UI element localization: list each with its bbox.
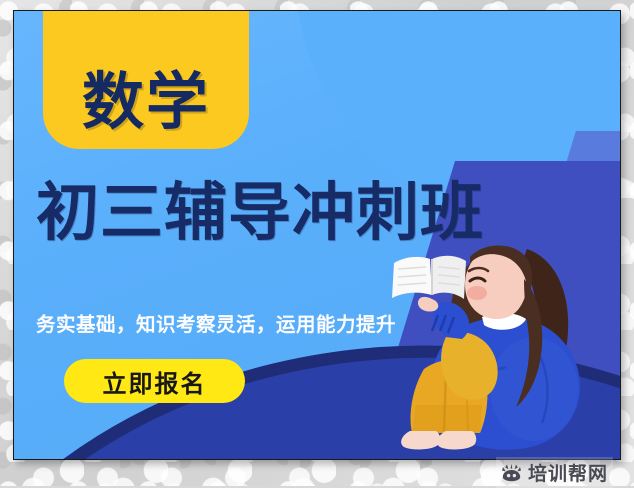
site-watermark: 培训帮网	[496, 457, 613, 488]
banner-subheadline: 务实基础，知识考察灵活，运用能力提升	[36, 308, 396, 337]
site-watermark-label: 培训帮网	[528, 459, 608, 486]
subject-badge: 数学	[43, 11, 249, 149]
sun-face-icon	[501, 463, 522, 482]
banner-headline: 初三辅导冲刺班	[36, 179, 484, 247]
woman-reading-book-icon	[384, 219, 614, 459]
subject-badge-label: 数学	[82, 71, 210, 133]
signup-now-button-label: 立即报名	[103, 364, 207, 399]
banner-canvas: 数学	[14, 11, 620, 459]
signup-now-button[interactable]: 立即报名	[64, 359, 245, 403]
promo-banner-card: 数学	[13, 10, 621, 460]
